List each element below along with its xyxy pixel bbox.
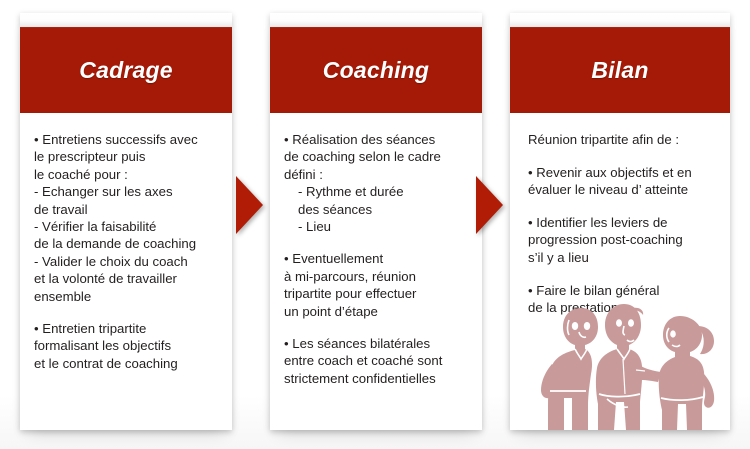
card-top-strip: [20, 13, 232, 27]
bullet-revenir-objectifs: • Revenir aux objectifs et en évaluer le…: [528, 164, 716, 199]
stage-header-coaching: Coaching: [270, 27, 482, 113]
bullet-identifier-leviers: • Identifier les leviers de progression …: [528, 214, 716, 267]
stage-card-coaching: Coaching • Réalisation des séances de co…: [270, 13, 482, 430]
process-diagram: Cadrage • Entretiens successifs avec le …: [0, 0, 750, 449]
sublist-cadre-defini: - Rythme et durée des séances - Lieu: [284, 183, 468, 235]
bullet-seances-bilaterales: • Les séances bilatérales entre coach et…: [284, 335, 468, 387]
bullet-realisation-seances: • Réalisation des séances de coaching se…: [284, 131, 468, 183]
bullet-entretiens-successifs: • Entretiens successifs avec le prescrip…: [34, 131, 218, 305]
stage-body-coaching: • Réalisation des séances de coaching se…: [270, 113, 482, 430]
arrow-right-icon-cadrage-to-coaching: [236, 176, 263, 234]
card-top-strip: [270, 13, 482, 27]
bullet-entretien-tripartite: • Entretien tripartite formalisant les o…: [34, 320, 218, 372]
stage-body-cadrage: • Entretiens successifs avec le prescrip…: [20, 113, 232, 430]
card-top-strip: [510, 13, 730, 27]
stage-title-cadrage: Cadrage: [79, 57, 172, 84]
stage-header-bilan: Bilan: [510, 27, 730, 113]
arrow-right-icon-coaching-to-bilan: [476, 176, 503, 234]
stage-header-cadrage: Cadrage: [20, 27, 232, 113]
bullet-faire-bilan-general: • Faire le bilan général de la prestatio…: [528, 282, 716, 317]
stage-title-coaching: Coaching: [323, 57, 429, 84]
stage-title-bilan: Bilan: [591, 57, 648, 84]
stage-card-bilan: Bilan Réunion tripartite afin de : • Rev…: [510, 13, 730, 430]
stage-card-cadrage: Cadrage • Entretiens successifs avec le …: [20, 13, 232, 430]
intro-reunion-tripartite: Réunion tripartite afin de :: [528, 131, 716, 149]
bullet-eventuellement-mi-parcours: • Eventuellement à mi-parcours, réunion …: [284, 250, 468, 320]
stage-body-bilan: Réunion tripartite afin de : • Revenir a…: [510, 113, 730, 430]
